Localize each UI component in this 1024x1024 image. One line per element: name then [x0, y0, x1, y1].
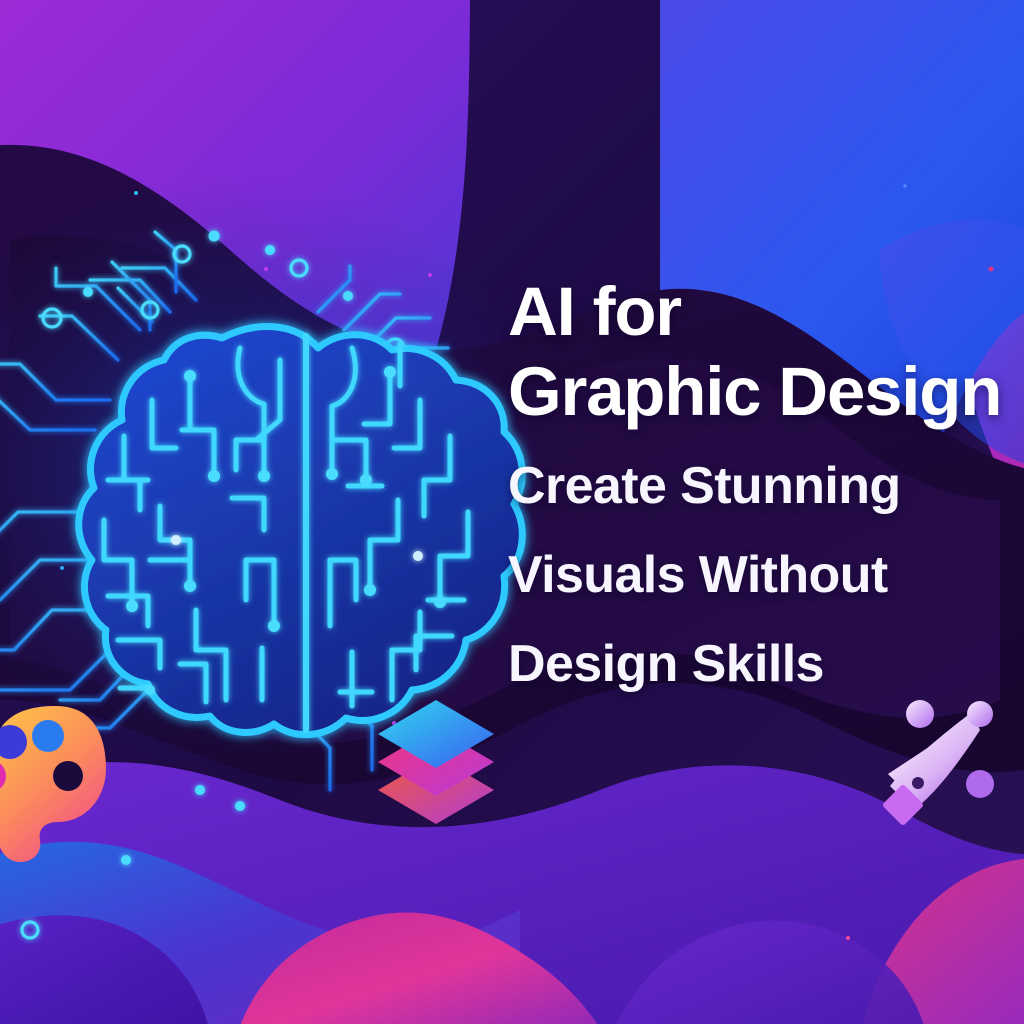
palette-dot-blue [32, 720, 64, 752]
pen-anchor-node-left [906, 700, 934, 728]
pen-control-node-bottom [966, 770, 994, 798]
pen-nib-hole [912, 777, 924, 789]
feature-icons [0, 0, 1024, 1024]
layers-stack-icon[interactable] [378, 700, 494, 824]
palette-thumb-hole [53, 761, 83, 791]
paint-palette-icon[interactable] [0, 706, 106, 862]
pen-anchor-node-right [967, 701, 993, 727]
pen-tool-icon[interactable] [882, 700, 994, 826]
poster-canvas: AI for Graphic Design Create Stunning Vi… [0, 0, 1024, 1024]
